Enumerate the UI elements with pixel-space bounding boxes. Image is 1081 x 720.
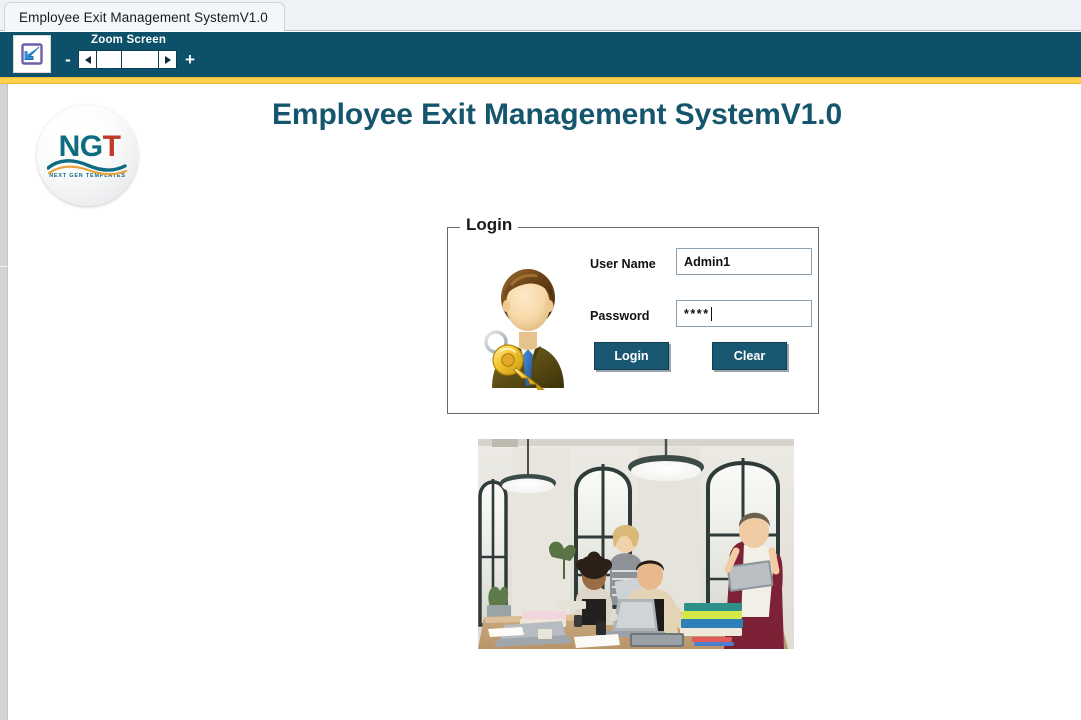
gutter-divider	[0, 266, 8, 267]
left-gutter	[0, 84, 8, 720]
password-input[interactable]: ****	[676, 300, 812, 327]
zoom-in-button[interactable]: +	[182, 51, 198, 68]
swoosh-icon	[47, 157, 127, 179]
office-team-photo	[478, 439, 794, 649]
application-window: Employee Exit Management SystemV1.0 Zoom…	[0, 0, 1081, 720]
zoom-slider-thumb[interactable]	[97, 50, 122, 69]
zoom-slider-track[interactable]	[122, 50, 158, 69]
window-tab-title: Employee Exit Management SystemV1.0	[19, 10, 268, 25]
page-canvas: NGT NEXT GEN TEMPLATES Employee Exit Man…	[9, 84, 1081, 720]
zoom-scroll-right-button[interactable]	[158, 50, 177, 69]
zoom-slider-scrollbar[interactable]	[78, 50, 177, 69]
text-caret	[711, 307, 712, 321]
restore-window-button[interactable]	[13, 35, 51, 73]
username-input[interactable]: Admin1	[676, 248, 812, 275]
username-row: User Name Admin1	[590, 248, 812, 282]
login-panel-legend: Login	[460, 215, 518, 235]
window-tab[interactable]: Employee Exit Management SystemV1.0	[4, 2, 285, 31]
window-title-bar: Employee Exit Management SystemV1.0	[0, 0, 1081, 31]
zoom-screen-label: Zoom Screen	[91, 34, 166, 46]
triangle-right-icon	[165, 56, 171, 64]
app-toolbar: Zoom Screen - +	[0, 32, 1081, 77]
zoom-scroll-left-button[interactable]	[78, 50, 97, 69]
login-button[interactable]: Login	[594, 342, 669, 370]
username-label: User Name	[590, 257, 656, 271]
zoom-out-button[interactable]: -	[60, 51, 76, 68]
login-panel: Login	[447, 227, 819, 414]
clear-button[interactable]: Clear	[712, 342, 787, 370]
page-title: Employee Exit Management SystemV1.0	[9, 98, 1081, 132]
restore-window-icon	[18, 40, 46, 68]
password-label: Password	[590, 309, 650, 323]
triangle-left-icon	[85, 56, 91, 64]
password-masked-value: ****	[684, 307, 710, 321]
login-fields: User Name Admin1 Password ****	[590, 248, 812, 352]
accent-strip	[0, 77, 1081, 84]
user-with-key-icon	[468, 250, 588, 390]
password-row: Password ****	[590, 300, 812, 334]
